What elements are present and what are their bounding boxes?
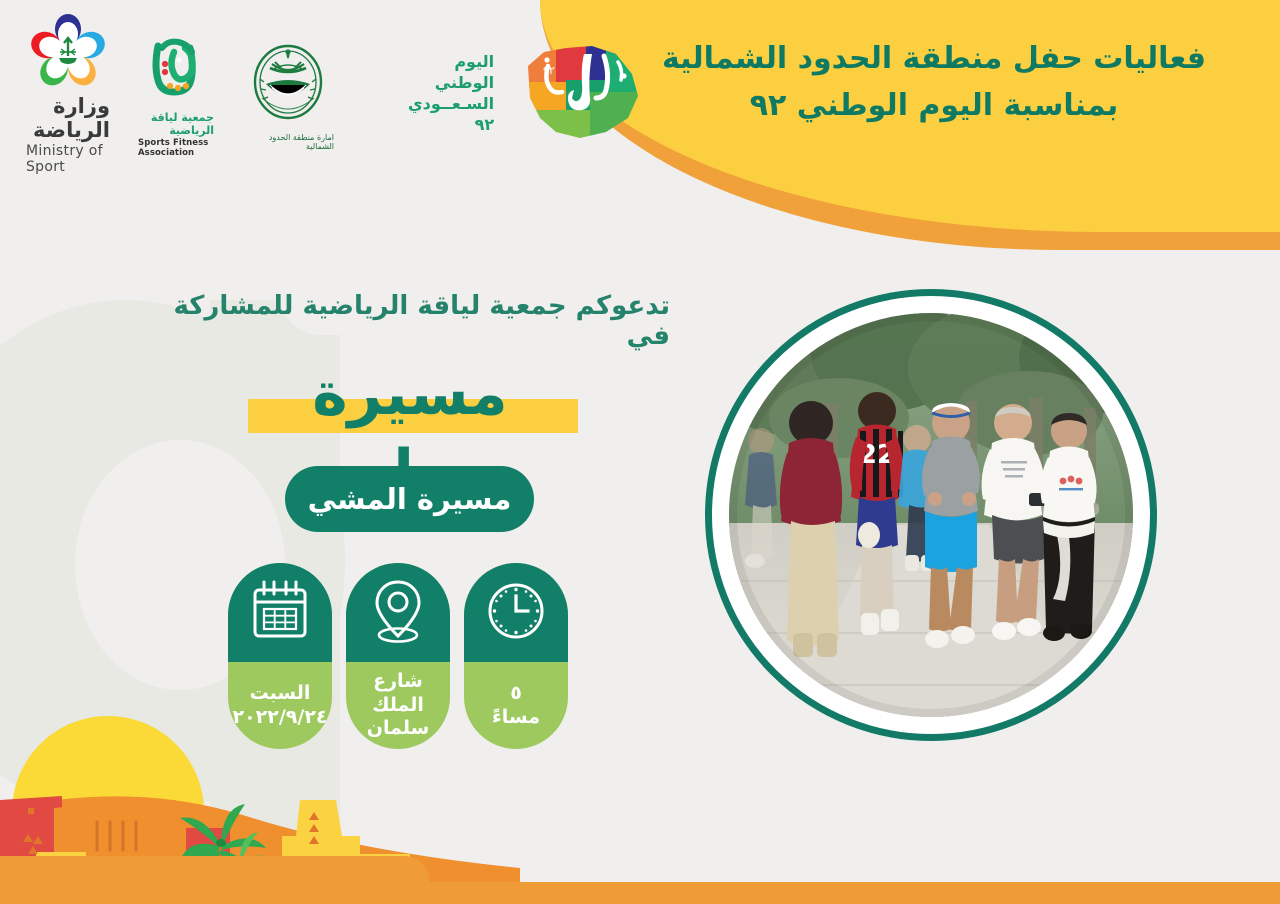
header-title: فعاليات حفل منطقة الحدود الشمالية بمناسب… xyxy=(624,36,1244,129)
map-pin-icon xyxy=(367,576,429,650)
info-pill-time-icon-area xyxy=(464,563,568,662)
event-type-badge-label: مسيرة المشي xyxy=(308,482,512,516)
poster-canvas: فعاليات حفل منطقة الحدود الشمالية بمناسب… xyxy=(0,0,1280,904)
bottom-orange-strip xyxy=(0,882,1280,904)
logo-national-day-label-ar: اليوم الوطني السـعــودي ٩٢ xyxy=(408,52,494,135)
bottom-orange-strip-riser xyxy=(0,856,430,882)
svg-text:٩٢: ٩٢ xyxy=(543,64,555,77)
event-title-wrapper: مسيرة وطن xyxy=(130,355,590,441)
event-type-badge: مسيرة المشي xyxy=(285,466,534,532)
flower-emblem-icon xyxy=(26,14,110,92)
logo-strip: وزارة الرياضة Ministry of Sport جمع xyxy=(0,24,620,164)
header-title-line-1: فعاليات حفل منطقة الحدود الشمالية xyxy=(624,36,1244,83)
logo-sports-fitness-association: جمعية لياقة الرياضية Sports Fitness Asso… xyxy=(138,30,214,158)
info-pill-location-icon-area xyxy=(346,563,450,662)
event-photo: 22 xyxy=(729,313,1133,717)
logo-ministry-of-sport-label-ar: وزارة الرياضة xyxy=(26,94,110,142)
logo-sfa-label-ar: جمعية لياقة الرياضية xyxy=(138,111,214,137)
logo-ministry-of-sport-label-en: Ministry of Sport xyxy=(26,143,110,175)
calligraphy-liyaqa-icon xyxy=(138,30,214,108)
calendar-icon xyxy=(248,578,312,648)
info-pill-time-line-1: ٥ xyxy=(492,682,540,706)
saudi-seal-icon xyxy=(242,38,334,132)
info-pill-date-line-1: السبت xyxy=(232,682,327,706)
logo-sfa-label-en: Sports Fitness Association xyxy=(138,138,214,158)
header-title-line-2: بمناسبة اليوم الوطني ٩٢ xyxy=(624,83,1244,130)
logo-saudi-national-day: اليوم الوطني السـعــودي ٩٢ xyxy=(408,32,650,156)
invitation-text: تدعوكم جمعية لياقة الرياضية للمشاركة في xyxy=(130,291,670,351)
info-pill-date-icon-area xyxy=(228,563,332,662)
logo-emirate-label-ar: امارة منطقة الحدود الشمالية xyxy=(242,133,334,151)
logo-ministry-of-sport: وزارة الرياضة Ministry of Sport xyxy=(26,14,110,175)
logo-emirate-northern-borders: امارة منطقة الحدود الشمالية xyxy=(242,38,334,151)
clock-icon xyxy=(483,578,549,648)
national-day-map-icon: ٩٢ xyxy=(500,32,650,156)
